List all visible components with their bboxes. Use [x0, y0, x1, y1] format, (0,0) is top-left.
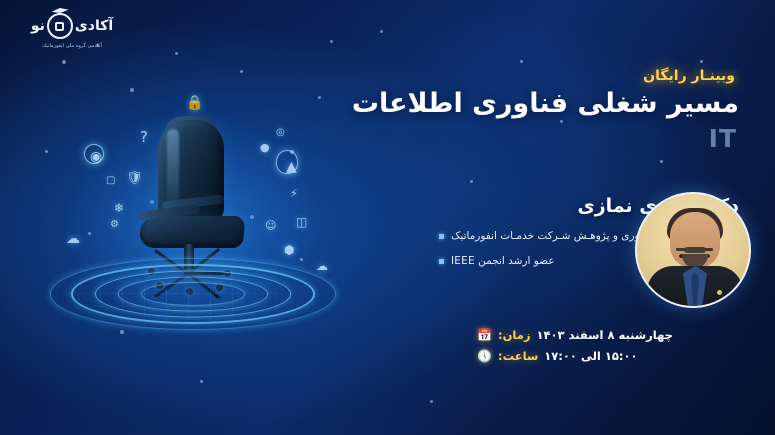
- star-dot: [175, 52, 178, 55]
- brand-logo[interactable]: آکادی نو آکادمی گروه ملی انفورماتیک: [12, 6, 132, 54]
- chair-seat: [139, 216, 246, 248]
- schedule-row-date: 📅 زمان: چهارشنبه ۸ اسفند ۱۴۰۳: [479, 328, 739, 342]
- webinar-banner: آکادی نو آکادمی گروه ملی انفورماتیک: [0, 0, 775, 435]
- brand-name-part-1: آکادی: [75, 19, 113, 33]
- avatar-lapel-pin: [717, 290, 722, 295]
- star-dot: [200, 380, 203, 383]
- brand-logo-row: آکادی نو: [31, 11, 113, 41]
- circle-dot-icon: ◎: [276, 128, 285, 138]
- cloud-icon: ☁: [66, 232, 80, 246]
- clock-icon: 🕔: [479, 350, 492, 363]
- grid-floor-decoration: [12, 288, 342, 346]
- bullet-square-icon: [439, 234, 444, 239]
- rocket-ring-icon: [276, 150, 298, 174]
- snowflake-icon: ❄: [114, 202, 124, 214]
- location-pin-icon: ●: [260, 142, 270, 153]
- fingerprint-ring-icon: [84, 144, 104, 164]
- question-mark-icon: ?: [140, 130, 148, 145]
- shield-icon: 🛡: [126, 172, 143, 185]
- logo-mark-inner: [55, 22, 64, 31]
- speaker-credential-2: عضو ارشد انجمن IEEE: [451, 253, 555, 269]
- schedule-time-label: ساعت:: [498, 349, 538, 363]
- page-title-sub: IT: [709, 124, 737, 153]
- schedule-block: 📅 زمان: چهارشنبه ۸ اسفند ۱۴۰۳ 🕔 ساعت: ۱۵…: [479, 328, 739, 370]
- kicker-free-webinar: وبینـار رایگان: [643, 68, 735, 84]
- page-title: مسیر شغلی فناوری اطلاعات: [352, 88, 739, 119]
- hexagon-chip-icon: ⬢: [284, 244, 294, 256]
- lock-icon: 🔒: [186, 96, 203, 110]
- schedule-row-time: 🕔 ساعت: ۱۵:۰۰ الی ۱۷:۰۰: [479, 349, 739, 363]
- gear-icon: ⚙: [110, 220, 119, 230]
- calendar-icon: 📅: [479, 329, 492, 342]
- user-icon: ☺: [265, 220, 276, 231]
- brand-tagline: آکادمی گروه ملی انفورماتیک: [42, 43, 102, 49]
- schedule-time-value: ۱۵:۰۰ الی ۱۷:۰۰: [544, 349, 637, 363]
- avatar-moustache: [684, 247, 706, 253]
- brand-name-part-2: نو: [31, 19, 45, 33]
- bullet-square-icon: [439, 259, 444, 264]
- graduation-cap-circle-icon: [47, 13, 73, 39]
- star-dot: [240, 70, 243, 73]
- avatar: [635, 192, 751, 308]
- database-icon: ◫: [296, 216, 307, 228]
- bolt-icon: ⚡: [290, 188, 298, 199]
- schedule-date-label: زمان:: [498, 328, 530, 342]
- schedule-date-value: چهارشنبه ۸ اسفند ۱۴۰۳: [536, 328, 672, 342]
- star-dot: [62, 60, 66, 64]
- mobile-icon: ▢: [106, 176, 115, 186]
- hero-illustration: 🔒 ? ◉ 🛡 ☁ ▲ ❄ ▢ ☺ ◫ ⬢ ☁ ◎ ⚡ ⚙ ●: [28, 92, 358, 342]
